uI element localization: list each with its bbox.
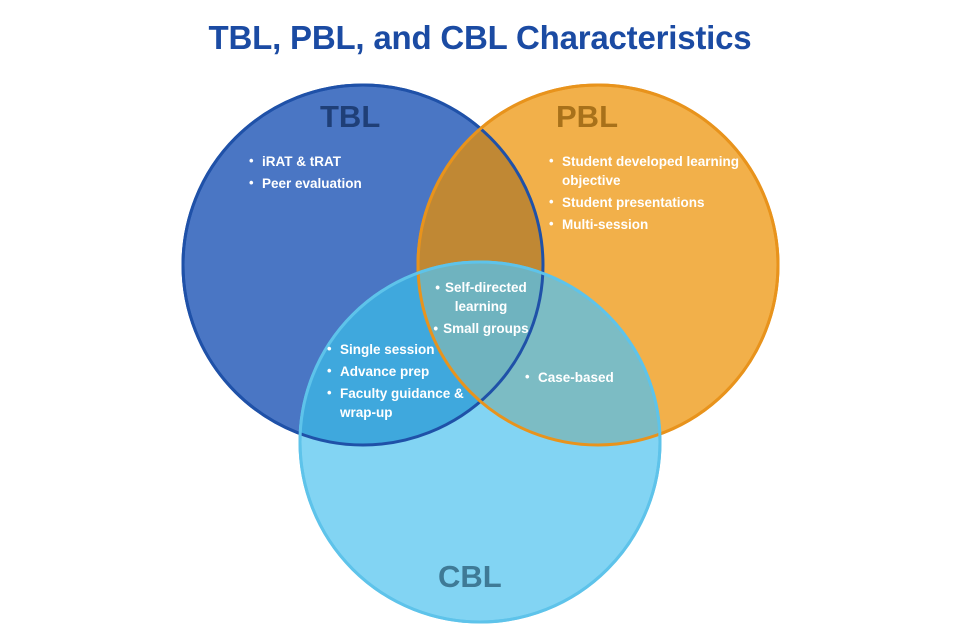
- list-item: •Self-directed learning: [418, 278, 544, 316]
- list-item: Single session: [326, 340, 486, 359]
- bullet-list-pbl-cbl: Case-based: [524, 368, 674, 390]
- list-item: Student presentations: [548, 193, 748, 212]
- circle-label-tbl: TBL: [320, 100, 380, 134]
- list-item: •Small groups: [418, 319, 544, 338]
- list-item: Faculty guidance & wrap-up: [326, 384, 486, 422]
- bullet-list-tbl-cbl: Single session Advance prep Faculty guid…: [326, 340, 486, 425]
- bullet-list-center: •Self-directed learning •Small groups: [418, 278, 544, 341]
- bullet-list-tbl: iRAT & tRAT Peer evaluation: [248, 152, 438, 196]
- list-item: Peer evaluation: [248, 174, 438, 193]
- list-item: Advance prep: [326, 362, 486, 381]
- venn-diagram-canvas: TBL, PBL, and CBL Characteristics: [0, 0, 960, 640]
- list-item-label: Self-directed learning: [445, 280, 527, 314]
- list-item: Student developed learning objective: [548, 152, 748, 190]
- list-item: iRAT & tRAT: [248, 152, 438, 171]
- bullet-list-pbl: Student developed learning objective Stu…: [548, 152, 748, 237]
- list-item: Multi-session: [548, 215, 748, 234]
- list-item: Case-based: [524, 368, 674, 387]
- circle-label-cbl: CBL: [438, 560, 502, 594]
- bullet-dot-icon: •: [435, 280, 440, 295]
- list-item-label: Small groups: [443, 321, 529, 336]
- circle-label-pbl: PBL: [556, 100, 618, 134]
- bullet-dot-icon: •: [433, 321, 438, 336]
